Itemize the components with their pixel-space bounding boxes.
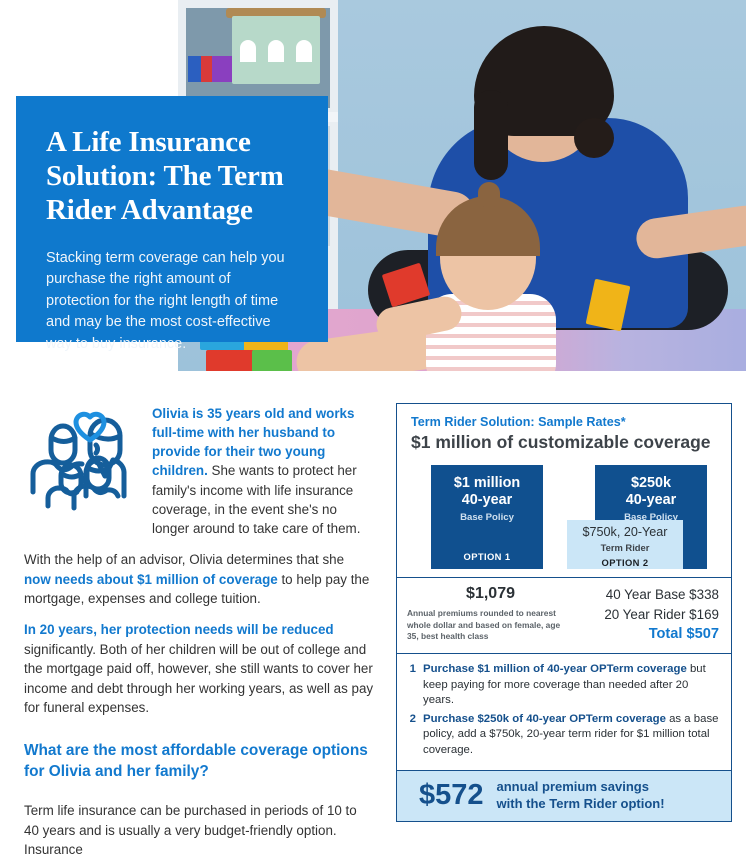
- savings-line-1: annual premium savings: [497, 779, 665, 796]
- photo-baby-hair-tuft: [478, 182, 500, 208]
- photo-dollhouse-window: [240, 40, 256, 62]
- step-number: 1: [407, 662, 416, 709]
- para2-a: With the help of an advisor, Olivia dete…: [24, 552, 344, 567]
- savings-amount: $572: [419, 781, 484, 810]
- term-rider-solution-card: Term Rider Solution: Sample Rates* $1 mi…: [396, 403, 732, 822]
- price-option-1: $1,079 Annual premiums rounded to neares…: [397, 578, 584, 653]
- savings-line-2: with the Term Rider option!: [497, 796, 665, 813]
- option-2-base-price: 40 Year Base $338: [588, 585, 719, 604]
- option-2-rider-box: $750k, 20-Year Term Rider OPTION 2: [567, 520, 683, 569]
- step-number: 2: [407, 712, 416, 759]
- savings-text: annual premium savings with the Term Rid…: [497, 779, 665, 812]
- list-item: 2 Purchase $250k of 40-year OPTerm cover…: [407, 712, 719, 759]
- photo-dollhouse: [232, 16, 320, 84]
- rider-kind: Term Rider: [567, 542, 683, 553]
- rider-amount: $750k, 20-Year: [567, 525, 683, 540]
- para3-highlight: In 20 years, her protection needs will b…: [24, 622, 334, 637]
- option-1-box: $1 million 40-year Base Policy OPTION 1: [431, 465, 543, 569]
- option-2-term: 40-year: [595, 492, 707, 509]
- photo-dollhouse-window: [296, 40, 312, 62]
- premium-footnote: Annual premiums rounded to nearest whole…: [407, 608, 574, 643]
- steps-list: 1 Purchase $1 million of 40-year OPTerm …: [397, 653, 731, 770]
- card-title: $1 million of customizable coverage: [411, 432, 717, 453]
- option-1-term: 40-year: [431, 492, 543, 509]
- intro-paragraph: Olivia is 35 years old and works full-ti…: [152, 400, 374, 538]
- options-diagram: $1 million 40-year Base Policy OPTION 1 …: [397, 465, 731, 577]
- option-1-premium: $1,079: [407, 585, 574, 603]
- price-option-2: 40 Year Base $338 20 Year Rider $169 Tot…: [584, 578, 731, 653]
- option-1-amount: $1 million: [431, 475, 543, 492]
- intro-row: Olivia is 35 years old and works full-ti…: [24, 400, 374, 538]
- option-2-total: Total $507: [588, 624, 719, 645]
- option-2-tag: OPTION 2: [567, 557, 683, 568]
- photo-dollhouse-window: [268, 40, 284, 62]
- para2-highlight: now needs about $1 million of coverage: [24, 572, 278, 587]
- option-2-amount: $250k: [595, 475, 707, 492]
- step-bold: Purchase $1 million of 40-year OPTerm co…: [423, 663, 687, 675]
- step-bold: Purchase $250k of 40-year OPTerm coverag…: [423, 713, 666, 725]
- paragraph-twenty-years: In 20 years, her protection needs will b…: [24, 620, 374, 717]
- hero-subtitle: Stacking term coverage can help you purc…: [46, 248, 298, 355]
- family-icon: [24, 404, 142, 516]
- page-title: A Life Insurance Solution: The Term Ride…: [46, 126, 298, 228]
- option-1-tag: OPTION 1: [431, 551, 543, 562]
- hero-text-panel: A Life Insurance Solution: The Term Ride…: [16, 96, 328, 342]
- card-header: Term Rider Solution: Sample Rates* $1 mi…: [397, 404, 731, 459]
- section-question: What are the most affordable coverage op…: [24, 740, 374, 784]
- paragraph-advisor: With the help of an advisor, Olivia dete…: [24, 550, 374, 608]
- hero-section: A Life Insurance Solution: The Term Ride…: [0, 0, 746, 375]
- photo-mother-bun: [574, 118, 614, 158]
- para3-rest: significantly. Both of her children will…: [24, 642, 373, 715]
- photo-mother-hair-side: [474, 90, 508, 180]
- photo-toys: [188, 56, 232, 82]
- article-column: Olivia is 35 years old and works full-ti…: [24, 400, 374, 860]
- option-2-rider-price: 20 Year Rider $169: [588, 605, 719, 624]
- paragraph-term-life: Term life insurance can be purchased in …: [24, 801, 374, 859]
- step-text: Purchase $250k of 40-year OPTerm coverag…: [423, 712, 719, 759]
- list-item: 1 Purchase $1 million of 40-year OPTerm …: [407, 662, 719, 709]
- prices-row: $1,079 Annual premiums rounded to neares…: [397, 577, 731, 653]
- card-kicker: Term Rider Solution: Sample Rates*: [411, 415, 717, 430]
- savings-banner: $572 annual premium savings with the Ter…: [397, 770, 731, 821]
- step-text: Purchase $1 million of 40-year OPTerm co…: [423, 662, 719, 709]
- option-1-kind: Base Policy: [431, 512, 543, 523]
